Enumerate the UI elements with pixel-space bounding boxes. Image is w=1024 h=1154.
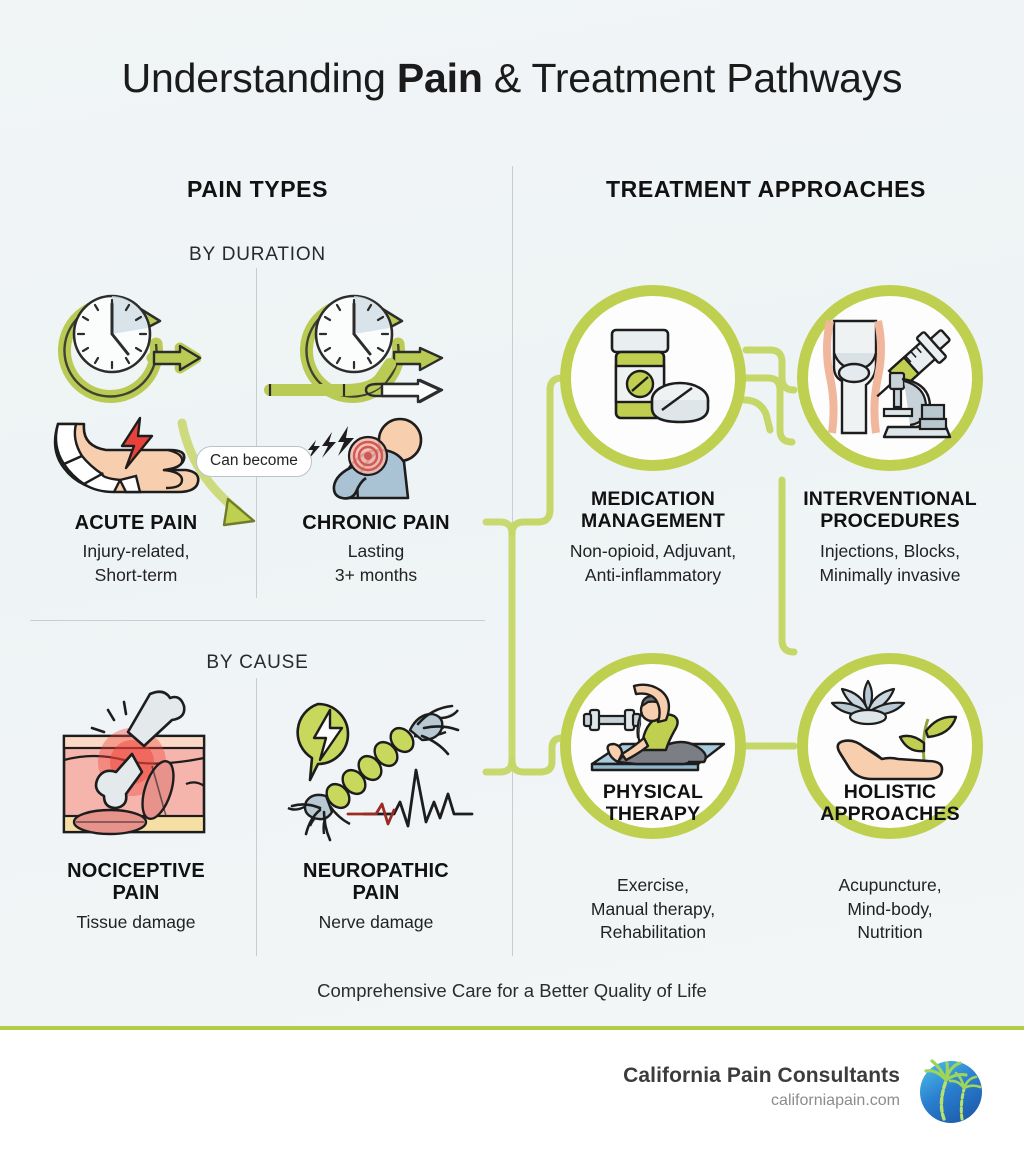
- brand-name: California Pain Consultants: [623, 1064, 900, 1088]
- treatment-circle-medication[interactable]: [560, 285, 746, 471]
- holistic-approaches-label: HOLISTIC APPROACHES: [797, 781, 983, 825]
- knee-injection-icon: [820, 315, 960, 441]
- can-become-label: Can become: [196, 446, 312, 477]
- lotus-hand-plant-icon: [820, 675, 960, 791]
- footer-brand: California Pain Consultants californiapa…: [623, 1064, 900, 1110]
- treatment-circle-interventional[interactable]: [797, 285, 983, 471]
- holistic-approaches-desc: Acupuncture, Mind-body, Nutrition: [765, 874, 1015, 945]
- infographic-root: Understanding Pain & Treatment Pathways …: [0, 0, 1024, 1154]
- medication-management-label: MEDICATION MANAGEMENT: [528, 488, 778, 532]
- can-become-arrow: [176, 415, 316, 540]
- pill-bottle-icon: [588, 318, 718, 438]
- brand-url: californiapain.com: [623, 1092, 900, 1110]
- interventional-procedures-label: INTERVENTIONAL PROCEDURES: [765, 488, 1015, 532]
- interventional-procedures-desc: Injections, Blocks, Minimally invasive: [760, 540, 1020, 587]
- physical-therapy-label: PHYSICAL THERAPY: [560, 781, 746, 825]
- medication-management-desc: Non-opioid, Adjuvant, Anti-inflammatory: [518, 540, 788, 587]
- globe-palm-trees-icon: [914, 1055, 988, 1129]
- physical-therapy-desc: Exercise, Manual therapy, Rehabilitation: [528, 874, 778, 945]
- yoga-stretch-icon: [578, 676, 728, 788]
